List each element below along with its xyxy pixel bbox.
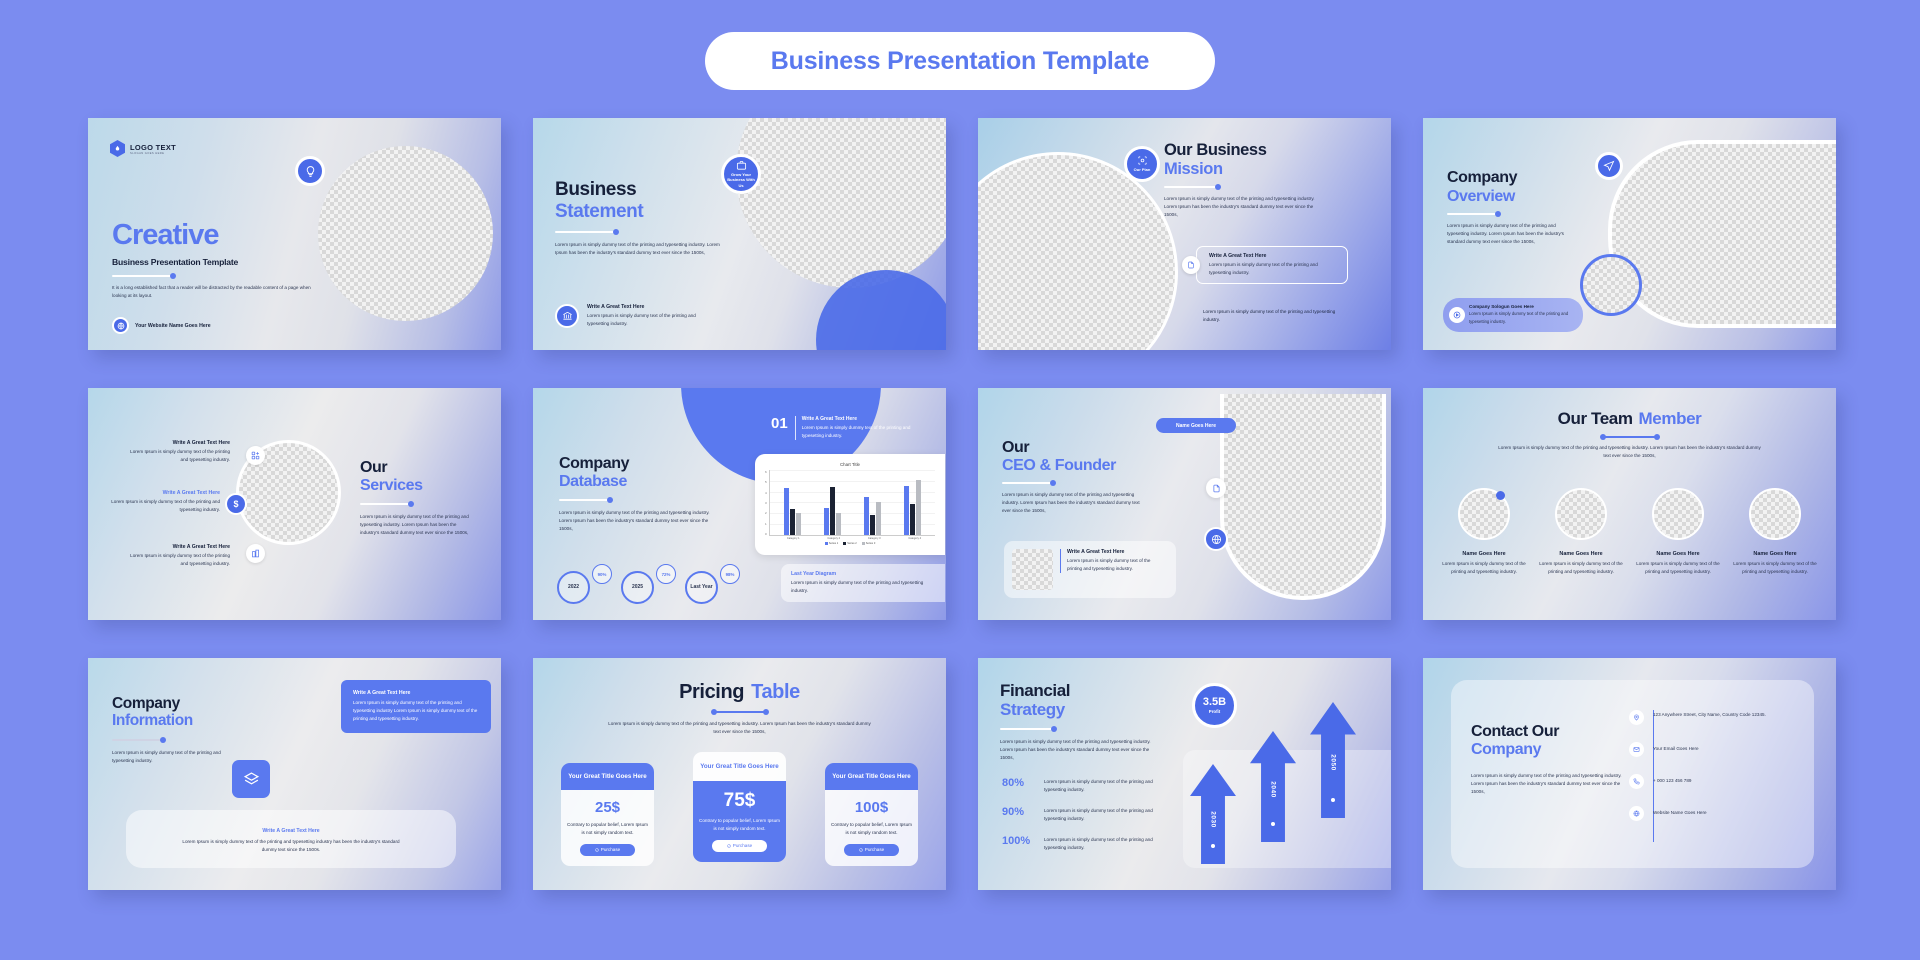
title-divider bbox=[1447, 213, 1499, 215]
slide-company-database[interactable]: Company Database Lorem Ipsum is simply d… bbox=[533, 388, 946, 620]
title-divider bbox=[1164, 186, 1219, 188]
our-plan-badge[interactable]: Our Plan bbox=[1124, 146, 1160, 182]
slides-grid: LOGO TEXT SLOGAN GOES HERE Creative Busi… bbox=[88, 118, 1836, 890]
card-title: Write A Great Text Here bbox=[140, 828, 442, 834]
slide-title-blue: Statement bbox=[555, 202, 735, 222]
bar bbox=[870, 515, 875, 535]
purchase-button[interactable]: Purchase bbox=[580, 844, 635, 856]
chart-legend: Series 1 Series 2 Series 3 bbox=[765, 542, 935, 545]
stat-body: Lorem Ipsum is simply dummy text of the … bbox=[1044, 807, 1160, 823]
lightbulb-badge[interactable] bbox=[295, 156, 325, 186]
step-title: Write A Great Text Here bbox=[802, 416, 917, 422]
slide-body: Lorem Ipsum is simply dummy text of the … bbox=[1000, 738, 1160, 762]
feature-body: Lorem Ipsum is simply dummy text of the … bbox=[587, 312, 717, 328]
plan-title: Your Great Title Goes Here bbox=[693, 752, 786, 781]
pricing-plans: Your Great Title Goes Here 25$ Contrary … bbox=[561, 752, 918, 866]
pricing-card[interactable]: Your Great Title Goes Here 25$ Contrary … bbox=[561, 763, 654, 866]
service-title: Write A Great Text Here bbox=[130, 544, 230, 550]
purchase-button[interactable]: Purchase bbox=[844, 844, 899, 856]
title-divider bbox=[559, 499, 611, 501]
purchase-label: Purchase bbox=[865, 847, 884, 852]
layers-icon[interactable] bbox=[232, 760, 270, 798]
stat-body: Lorem Ipsum is simply dummy text of the … bbox=[1044, 778, 1160, 794]
stat-percent: 80% bbox=[1002, 778, 1036, 789]
team-member-card[interactable]: Name Goes Here Lorem Ipsum is simply dum… bbox=[1439, 488, 1529, 576]
slide-body: Lorem Ipsum is simply dummy text of the … bbox=[112, 749, 242, 765]
team-member-card[interactable]: Name Goes Here Lorem Ipsum is simply dum… bbox=[1536, 488, 1626, 576]
ring-year: 2022 bbox=[557, 571, 590, 604]
image-placeholder-circle bbox=[1580, 254, 1642, 316]
step-block: 01 Write A Great Text Here Lorem Ipsum i… bbox=[771, 416, 917, 440]
slide-business-statement[interactable]: Grow Your Business With Us Business Stat… bbox=[533, 118, 946, 350]
dollar-icon[interactable]: $ bbox=[225, 493, 247, 515]
bar-group bbox=[904, 480, 921, 535]
website-footer[interactable]: Your Website Name Goes Here bbox=[112, 317, 211, 334]
slide-ceo-founder[interactable]: Name Goes Here Our CEO & Founder Lorem I… bbox=[978, 388, 1391, 620]
image-placeholder-rounded bbox=[1608, 140, 1836, 328]
globe-icon bbox=[112, 317, 129, 334]
team-member-card[interactable]: Name Goes Here Lorem Ipsum is simply dum… bbox=[1730, 488, 1820, 576]
contact-row[interactable]: Your Email Goes Here bbox=[1629, 742, 1819, 757]
contact-text: Your Email Goes Here bbox=[1653, 745, 1781, 753]
play-circle-icon bbox=[1449, 307, 1465, 323]
card-title: Write A Great Text Here bbox=[1209, 253, 1338, 259]
member-name: Name Goes Here bbox=[1536, 551, 1626, 557]
bar-group bbox=[864, 497, 881, 536]
profit-badge[interactable]: 3.5B Profit bbox=[1192, 683, 1237, 728]
bar-group bbox=[784, 488, 801, 535]
ring-percent: 90% bbox=[592, 564, 612, 584]
slide-title-dark: Pricing bbox=[679, 682, 744, 703]
chart-card[interactable]: Chart Title 6 5 4 3 2 1 0 bbox=[755, 454, 945, 555]
bar bbox=[836, 513, 841, 535]
bar bbox=[876, 502, 881, 535]
y-tick: 1 bbox=[765, 522, 767, 526]
contact-row[interactable]: 123 Anywhere Street, City Name, Country … bbox=[1629, 710, 1819, 725]
page-title: Business Presentation Template bbox=[771, 47, 1149, 76]
footer-body: Lorem Ipsum is simply dummy text of the … bbox=[1203, 308, 1353, 324]
stat-body: Lorem Ipsum is simply dummy text of the … bbox=[1044, 836, 1160, 852]
avatar bbox=[1555, 488, 1607, 540]
slide-title: Creative bbox=[112, 221, 352, 250]
team-members: Name Goes Here Lorem Ipsum is simply dum… bbox=[1439, 488, 1820, 576]
slide-title-blue: Strategy bbox=[1000, 701, 1180, 719]
slide-title-dark: Company bbox=[1447, 170, 1612, 187]
x-tick: Category 3 bbox=[868, 537, 881, 540]
title-divider bbox=[1000, 728, 1055, 730]
profile-card[interactable]: Write A Great Text Here Lorem Ipsum is s… bbox=[1004, 541, 1176, 598]
slide-title-blue: Services bbox=[360, 478, 488, 495]
slogan-pill[interactable]: Company Sologun Goes Here Lorem Ipsum is… bbox=[1443, 298, 1583, 332]
avatar bbox=[1652, 488, 1704, 540]
slide-business-mission[interactable]: Our Plan Our Business Mission Lorem Ipsu… bbox=[978, 118, 1391, 350]
legend-label: Series 3 bbox=[866, 542, 876, 545]
image-placeholder-circle-large bbox=[736, 118, 946, 288]
note-title: Last Year Diagram bbox=[791, 571, 935, 577]
arrow-2050[interactable]: 2050 bbox=[1310, 702, 1356, 818]
arrow-2040[interactable]: 2040 bbox=[1250, 731, 1296, 842]
profit-value: 3.5B bbox=[1203, 697, 1226, 708]
title-divider bbox=[714, 711, 766, 713]
contact-text: + 000 123 456 789 bbox=[1653, 777, 1781, 785]
bar bbox=[824, 508, 829, 536]
slide-title-dark: Our Business bbox=[1164, 142, 1374, 159]
slide-title-dark: Our bbox=[360, 460, 488, 477]
logo[interactable]: LOGO TEXT SLOGAN GOES HERE bbox=[110, 140, 176, 157]
arrow-dot bbox=[1271, 822, 1275, 826]
slide-pricing-table[interactable]: Pricing Table Lorem Ipsum is simply dumm… bbox=[533, 658, 946, 890]
website-name: Your Website Name Goes Here bbox=[135, 323, 211, 329]
service-title: Write A Great Text Here bbox=[130, 440, 230, 446]
service-item-2[interactable]: Write A Great Text Here Lorem Ipsum is s… bbox=[110, 490, 220, 514]
service-item-1[interactable]: Write A Great Text Here Lorem Ipsum is s… bbox=[130, 440, 230, 464]
service-title: Write A Great Text Here bbox=[110, 490, 220, 496]
slide-body: Lorem Ipsum is simply dummy text of the … bbox=[1164, 195, 1324, 219]
phone-icon bbox=[1629, 774, 1644, 789]
slide-title-blue: Mission bbox=[1164, 161, 1374, 178]
slide-body: Lorem Ipsum is simply dummy text of the … bbox=[555, 241, 723, 257]
slide-body: Lorem Ipsum is simply dummy text of the … bbox=[1002, 491, 1142, 515]
chart-title: Chart Title bbox=[765, 462, 935, 467]
slide-subtitle: Business Presentation Template bbox=[112, 257, 352, 267]
y-tick: 0 bbox=[765, 532, 767, 536]
member-body: Lorem Ipsum is simply dummy text of the … bbox=[1730, 560, 1820, 576]
slide-title-blue: Information bbox=[112, 713, 282, 729]
badge-label: Name Goes Here bbox=[1176, 423, 1216, 429]
slide-contact-company[interactable]: Contact Our Company Lorem Ipsum is simpl… bbox=[1423, 658, 1836, 890]
slide-title-blue: Overview bbox=[1447, 189, 1612, 206]
slide-title-blue: Database bbox=[559, 474, 744, 491]
stat-row[interactable]: 90% Lorem Ipsum is simply dummy text of … bbox=[1002, 807, 1172, 823]
plan-price: 25$ bbox=[567, 799, 648, 816]
document-icon[interactable] bbox=[1206, 478, 1226, 498]
legend-label: Series 2 bbox=[847, 542, 857, 545]
x-tick: Category 4 bbox=[908, 537, 921, 540]
title-divider bbox=[555, 231, 617, 233]
card-body: Lorem Ipsum is simply dummy text of the … bbox=[1209, 261, 1338, 277]
slide-body: Lorem Ipsum is simply dummy text of the … bbox=[360, 513, 475, 537]
card-body: Lorem Ipsum is simply dummy text of the … bbox=[1067, 557, 1164, 573]
bar bbox=[790, 509, 795, 535]
bar bbox=[904, 486, 909, 536]
y-tick: 2 bbox=[765, 511, 767, 515]
title-divider bbox=[1002, 482, 1054, 484]
slide-title-dark: Our Team bbox=[1558, 410, 1633, 428]
plan-title: Your Great Title Goes Here bbox=[561, 763, 654, 790]
pricing-card[interactable]: Your Great Title Goes Here 100$ Contrary… bbox=[825, 763, 918, 866]
card-title: Write A Great Text Here bbox=[1067, 549, 1164, 555]
member-body: Lorem Ipsum is simply dummy text of the … bbox=[1633, 560, 1723, 576]
globe-icon bbox=[1629, 806, 1644, 821]
purchase-label: Purchase bbox=[601, 847, 620, 852]
pricing-card-featured[interactable]: Your Great Title Goes Here 75$ Contrary … bbox=[693, 752, 786, 862]
slogan-title: Company Sologun Goes Here bbox=[1469, 304, 1575, 309]
buildings-icon[interactable] bbox=[246, 544, 265, 563]
member-name: Name Goes Here bbox=[1439, 551, 1529, 557]
logo-subtext: SLOGAN GOES HERE bbox=[130, 152, 176, 155]
slide-title-dark: Business bbox=[555, 180, 735, 200]
slide-our-services[interactable]: Write A Great Text Here Lorem Ipsum is s… bbox=[88, 388, 501, 620]
x-tick: Category 2 bbox=[827, 537, 840, 540]
card-body: Lorem Ipsum is simply dummy text of the … bbox=[176, 838, 406, 854]
mail-icon bbox=[1629, 742, 1644, 757]
contact-row[interactable]: + 000 123 456 789 bbox=[1629, 774, 1819, 789]
bar bbox=[864, 497, 869, 536]
slide-body: Lorem Ipsum is simply dummy text of the … bbox=[1447, 222, 1572, 246]
contact-text: Website Name Goes Here bbox=[1653, 809, 1781, 817]
bar bbox=[796, 513, 801, 535]
title-divider bbox=[112, 275, 174, 277]
step-number: 01 bbox=[771, 416, 788, 431]
slide-title-dark: Company bbox=[112, 696, 282, 712]
info-card[interactable]: Write A Great Text Here Lorem Ipsum is s… bbox=[126, 810, 456, 868]
arrow-dot bbox=[1331, 798, 1335, 802]
stat-ring-group[interactable]: 2025 72% bbox=[621, 564, 676, 604]
slogan-body: Lorem Ipsum is simply dummy text of the … bbox=[1469, 310, 1575, 325]
slide-body: Lorem Ipsum is simply dummy text of the … bbox=[1496, 444, 1764, 460]
image-placeholder-square bbox=[1012, 549, 1053, 590]
service-body: Lorem Ipsum is simply dummy text of the … bbox=[130, 448, 230, 464]
title-divider bbox=[112, 739, 164, 741]
slide-body: Lorem Ipsum is simply dummy text of the … bbox=[559, 509, 719, 533]
member-body: Lorem Ipsum is simply dummy text of the … bbox=[1439, 560, 1529, 576]
plan-desc: Contrary to popular belief, Lorem Ipsum … bbox=[567, 821, 648, 837]
step-body: Lorem Ipsum is simply dummy text of the … bbox=[802, 424, 917, 440]
bar bbox=[916, 480, 921, 535]
ring-year: Last Year bbox=[685, 571, 718, 604]
service-body: Lorem Ipsum is simply dummy text of the … bbox=[110, 498, 220, 514]
plan-price: 75$ bbox=[699, 790, 780, 812]
team-member-card[interactable]: Name Goes Here Lorem Ipsum is simply dum… bbox=[1633, 488, 1723, 576]
globe-icon[interactable] bbox=[1204, 527, 1228, 551]
cart-icon bbox=[595, 848, 599, 852]
slide-title-blue: Company bbox=[1471, 742, 1646, 759]
slide-company-overview[interactable]: Company Overview Lorem Ipsum is simply d… bbox=[1423, 118, 1836, 350]
service-item-3[interactable]: Write A Great Text Here Lorem Ipsum is s… bbox=[130, 544, 230, 568]
title-divider bbox=[1603, 436, 1657, 438]
stat-ring-group[interactable]: Last Year 98% bbox=[685, 564, 740, 604]
plan-price: 100$ bbox=[831, 799, 912, 816]
slide-title-dark: Contact Our bbox=[1471, 724, 1646, 741]
slide-title-dark: Company bbox=[559, 456, 744, 473]
slide-title-dark: Financial bbox=[1000, 682, 1180, 700]
document-icon bbox=[1182, 256, 1200, 274]
bar bbox=[910, 504, 915, 535]
y-tick: 6 bbox=[765, 470, 767, 474]
ring-year: 2025 bbox=[621, 571, 654, 604]
bar bbox=[830, 487, 835, 535]
arrow-2030[interactable]: 2030 bbox=[1190, 764, 1236, 864]
chart-x-axis: Category 1 Category 2 Category 3 Categor… bbox=[765, 537, 935, 540]
stat-percent: 90% bbox=[1002, 807, 1036, 818]
slide-company-information[interactable]: Company Information Lorem Ipsum is simpl… bbox=[88, 658, 501, 890]
x-tick: Category 1 bbox=[787, 537, 800, 540]
logo-hex-icon bbox=[110, 140, 125, 157]
slide-our-team-member[interactable]: Our Team Member Lorem Ipsum is simply du… bbox=[1423, 388, 1836, 620]
note-body: Lorem Ipsum is simply dummy text of the … bbox=[791, 579, 935, 595]
purchase-label: Purchase bbox=[733, 843, 752, 848]
arrow-year-label: 2050 bbox=[1330, 754, 1337, 770]
plan-desc: Contrary to popular belief, Lorem Ipsum … bbox=[831, 821, 912, 837]
panel-title: Write A Great Text Here bbox=[353, 690, 479, 696]
profit-label: Profit bbox=[1209, 709, 1220, 714]
ring-percent: 72% bbox=[656, 564, 676, 584]
service-body: Lorem Ipsum is simply dummy text of the … bbox=[130, 552, 230, 568]
stat-ring-group[interactable]: 2022 90% bbox=[557, 564, 612, 604]
contact-text: 123 Anywhere Street, City Name, Country … bbox=[1653, 710, 1781, 719]
stat-row[interactable]: 80% Lorem Ipsum is simply dummy text of … bbox=[1002, 778, 1172, 794]
slide-title-blue: Member bbox=[1639, 410, 1702, 428]
slide-creative-cover[interactable]: LOGO TEXT SLOGAN GOES HERE Creative Busi… bbox=[88, 118, 501, 350]
mission-card[interactable]: Write A Great Text Here Lorem Ipsum is s… bbox=[1182, 246, 1348, 284]
slide-body: Lorem Ipsum is simply dummy text of the … bbox=[1471, 772, 1623, 796]
y-tick: 4 bbox=[765, 491, 767, 495]
panel-body: Lorem Ipsum is simply dummy text of the … bbox=[353, 699, 479, 723]
image-placeholder-circle-large bbox=[978, 152, 1178, 350]
slide-title-blue: Table bbox=[751, 682, 800, 703]
slide-title-dark: Our bbox=[1002, 440, 1182, 457]
purchase-button[interactable]: Purchase bbox=[712, 840, 767, 852]
arrow-year-label: 2030 bbox=[1210, 811, 1217, 827]
cart-icon bbox=[727, 844, 731, 848]
bank-icon bbox=[555, 304, 579, 328]
info-panel[interactable]: Write A Great Text Here Lorem Ipsum is s… bbox=[341, 680, 491, 733]
contact-row[interactable]: Website Name Goes Here bbox=[1629, 806, 1819, 821]
stat-rings: 2022 90% 2025 72% Last Year 98% bbox=[557, 564, 740, 604]
y-tick: 3 bbox=[765, 501, 767, 505]
header-title-pill: Business Presentation Template bbox=[705, 32, 1215, 90]
arrow-dot bbox=[1211, 844, 1215, 848]
add-grid-icon[interactable] bbox=[246, 446, 265, 465]
logo-text: LOGO TEXT bbox=[130, 143, 176, 152]
member-body: Lorem Ipsum is simply dummy text of the … bbox=[1536, 560, 1626, 576]
member-name: Name Goes Here bbox=[1633, 551, 1723, 557]
slide-financial-strategy[interactable]: Financial Strategy Lorem Ipsum is simply… bbox=[978, 658, 1391, 890]
member-name: Name Goes Here bbox=[1730, 551, 1820, 557]
legend-label: Series 1 bbox=[829, 542, 839, 545]
feature-item[interactable]: Write A Great Text Here Lorem Ipsum is s… bbox=[555, 304, 717, 328]
note-card[interactable]: Last Year Diagram Lorem Ipsum is simply … bbox=[781, 564, 945, 602]
stat-percent: 100% bbox=[1002, 836, 1036, 847]
bar bbox=[784, 488, 789, 535]
slide-body: Lorem Ipsum is simply dummy text of the … bbox=[607, 720, 872, 736]
plan-desc: Contrary to popular belief, Lorem Ipsum … bbox=[699, 817, 780, 833]
slide-title-blue: CEO & Founder bbox=[1002, 458, 1182, 475]
stats-list: 80% Lorem Ipsum is simply dummy text of … bbox=[1002, 778, 1172, 852]
name-badge[interactable]: Name Goes Here bbox=[1156, 418, 1236, 433]
arrow-year-label: 2040 bbox=[1270, 781, 1277, 797]
accent-dot bbox=[1496, 491, 1505, 500]
y-tick: 5 bbox=[765, 480, 767, 484]
badge-label: Our Plan bbox=[1134, 167, 1151, 172]
avatar bbox=[1749, 488, 1801, 540]
cart-icon bbox=[859, 848, 863, 852]
image-placeholder-rounded bbox=[1220, 394, 1386, 600]
slide-body: It is a long established fact that a rea… bbox=[112, 284, 320, 300]
feature-title: Write A Great Text Here bbox=[587, 304, 717, 310]
plan-title: Your Great Title Goes Here bbox=[825, 763, 918, 790]
location-icon bbox=[1629, 710, 1644, 725]
contact-list: 123 Anywhere Street, City Name, Country … bbox=[1629, 710, 1819, 821]
bar-group bbox=[824, 487, 841, 535]
title-divider bbox=[360, 503, 412, 505]
stat-row[interactable]: 100% Lorem Ipsum is simply dummy text of… bbox=[1002, 836, 1172, 852]
ring-percent: 98% bbox=[720, 564, 740, 584]
